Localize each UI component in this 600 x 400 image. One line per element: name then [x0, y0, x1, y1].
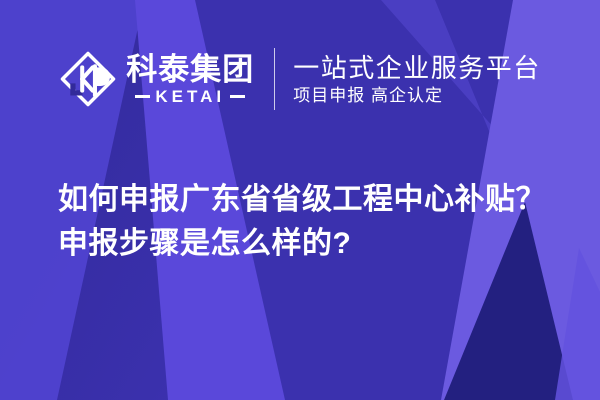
tagline-block: 一站式企业服务平台 项目申报 高企认定 — [293, 53, 541, 106]
brand-latin-row: KETAI — [126, 88, 254, 106]
dash-left-icon — [135, 95, 150, 98]
brand-wordmark: 科泰集团 KETAI — [126, 53, 254, 106]
brand-name-chinese: 科泰集团 — [126, 53, 254, 86]
dash-right-icon — [230, 95, 245, 98]
banner-header: 科泰集团 KETAI 一站式企业服务平台 项目申报 高企认定 — [0, 38, 600, 120]
promo-banner: 科泰集团 KETAI 一站式企业服务平台 项目申报 高企认定 如何申报广东省省级… — [0, 0, 600, 400]
ketai-diamond-kp-logo-icon — [59, 50, 117, 108]
vertical-divider — [274, 48, 275, 110]
brand-logo: 科泰集团 KETAI — [59, 50, 254, 108]
tagline-primary: 一站式企业服务平台 — [293, 53, 541, 83]
tagline-secondary: 项目申报 高企认定 — [293, 86, 541, 106]
banner-headline: 如何申报广东省省级工程中心补贴？申报步骤是怎么样的? — [58, 178, 558, 266]
brand-name-latin: KETAI — [155, 88, 225, 106]
